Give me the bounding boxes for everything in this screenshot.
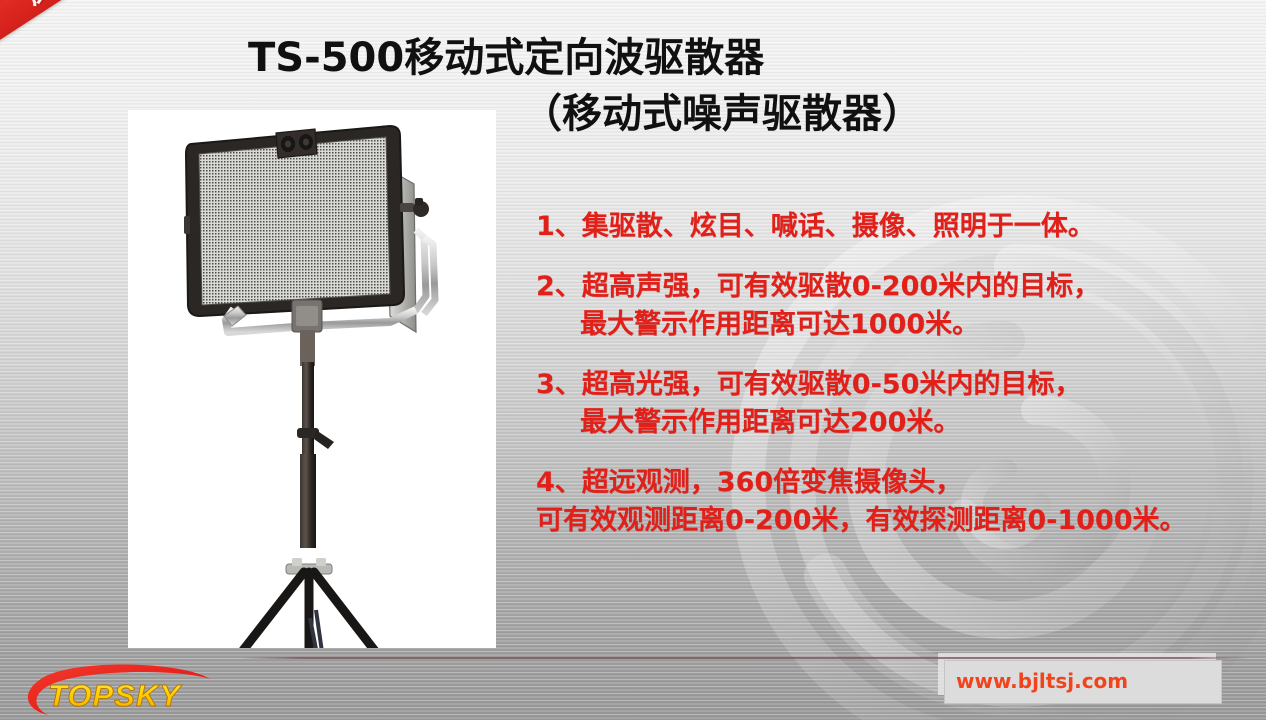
bullet-1-line-1: 1、集驱散、炫目、喊话、摄像、照明于一体。 [536,208,1236,246]
pole-collar [300,330,315,366]
bullet-2-line-1: 2、超高声强，可有效驱散0-200米内的目标， [536,268,1236,306]
footer-divider [240,657,1250,659]
bullet-2-line-2: 最大警示作用距离可达1000米。 [536,306,1236,344]
product-photo [128,110,496,648]
bullet-4-line-2: 可有效观测距离0-200米，有效探测距离0-1000米。 [536,502,1236,540]
pole-upper [302,362,314,462]
slide-canvas: 反恐处突 TS-500移动式定向波驱散器 （移动式噪声驱散器） [0,0,1266,720]
website-url[interactable]: www.bjltsj.com [956,669,1128,693]
bullet-4-line-1: 4、超远观测，360倍变焦摄像头， [536,464,1236,502]
side-tab [184,216,190,234]
ribbon-label: 反恐处突 [0,0,218,70]
pole-lower [300,454,316,548]
list-item: 3、超高光强，可有效驱散0-50米内的目标， 最大警示作用距离可达200米。 [536,366,1236,442]
feature-list: 1、集驱散、炫目、喊话、摄像、照明于一体。 2、超高声强，可有效驱散0-200米… [536,208,1236,562]
camera-module-icon [276,129,317,158]
list-item: 4、超远观测，360倍变焦摄像头， 可有效观测距离0-200米，有效探测距离0-… [536,464,1236,540]
corner-ribbon: 反恐处突 [0,0,230,150]
page-title: TS-500移动式定向波驱散器 [248,30,1078,86]
bullet-3-line-2: 最大警示作用距离可达200米。 [536,404,1236,442]
bullet-3-line-1: 3、超高光强，可有效驱散0-50米内的目标， [536,366,1236,404]
list-item: 2、超高声强，可有效驱散0-200米内的目标， 最大警示作用距离可达1000米。 [536,268,1236,344]
list-item: 1、集驱散、炫目、喊话、摄像、照明于一体。 [536,208,1236,246]
topsky-logo: TOPSKY [14,663,224,717]
logo-wordmark: TOPSKY [48,678,183,713]
product-photo-panel [128,110,496,648]
